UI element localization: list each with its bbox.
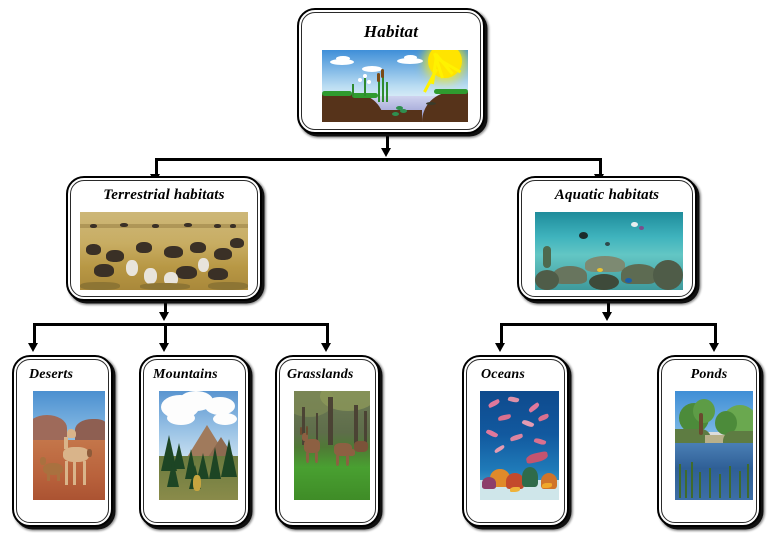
- ocean-fish-shoal-photo: [480, 391, 559, 500]
- connector-to-grasslands: [326, 323, 329, 345]
- savanna-grazing-animals-photo: [80, 212, 248, 290]
- connector-to-ponds: [714, 323, 717, 345]
- node-habitat-label: Habitat: [302, 22, 480, 42]
- node-aquatic-habitats[interactable]: Aquatic habitats: [517, 176, 697, 301]
- connector-to-mountains: [164, 323, 167, 345]
- node-aquatic-inner: Aquatic habitats: [521, 180, 693, 297]
- arrowhead-deserts: [28, 343, 38, 352]
- connector-level2-bus: [155, 158, 601, 161]
- node-terrestrial-inner: Terrestrial habitats: [70, 180, 258, 297]
- node-terrestrial-label: Terrestrial habitats: [71, 187, 257, 204]
- habitat-hierarchy-diagram: Habitat: [0, 0, 773, 533]
- coral-reef-underwater-photo: [535, 212, 683, 290]
- desert-camels-photo: [33, 391, 105, 500]
- node-mountains-label: Mountains: [144, 367, 245, 383]
- habitat-scene-illustration: [322, 50, 468, 122]
- connector-to-deserts: [33, 323, 36, 345]
- node-grasslands[interactable]: Grasslands: [275, 355, 380, 527]
- grassland-deer-photo: [294, 391, 370, 500]
- pond-trees-reeds-photo: [675, 391, 753, 500]
- node-ponds-inner: Ponds: [661, 359, 757, 523]
- node-deserts-label: Deserts: [17, 367, 108, 383]
- arrowhead-grasslands: [321, 343, 331, 352]
- node-grasslands-inner: Grasslands: [279, 359, 376, 523]
- node-oceans-inner: Oceans: [466, 359, 565, 523]
- node-deserts[interactable]: Deserts: [12, 355, 113, 527]
- node-oceans-label: Oceans: [467, 367, 564, 383]
- connector-terrestrial-bus: [33, 323, 328, 326]
- arrowhead-ponds: [709, 343, 719, 352]
- arrowhead-terrestrial-stem: [159, 312, 169, 321]
- node-ponds[interactable]: Ponds: [657, 355, 761, 527]
- connector-aquatic-bus: [500, 323, 716, 326]
- node-grasslands-label: Grasslands: [280, 367, 375, 383]
- node-aquatic-label: Aquatic habitats: [522, 187, 692, 204]
- arrowhead-mountains: [159, 343, 169, 352]
- connector-to-oceans: [500, 323, 503, 345]
- node-mountains-inner: Mountains: [143, 359, 246, 523]
- node-deserts-inner: Deserts: [16, 359, 109, 523]
- arrowhead-oceans: [495, 343, 505, 352]
- mountain-conifers-photo: [159, 391, 238, 500]
- node-habitat-inner: Habitat: [301, 12, 481, 130]
- node-terrestrial-habitats[interactable]: Terrestrial habitats: [66, 176, 262, 301]
- node-habitat[interactable]: Habitat: [297, 8, 485, 134]
- node-ponds-label: Ponds: [662, 367, 756, 383]
- node-oceans[interactable]: Oceans: [462, 355, 569, 527]
- arrowhead-aquatic-stem: [602, 312, 612, 321]
- node-mountains[interactable]: Mountains: [139, 355, 250, 527]
- arrowhead-root-stem: [381, 148, 391, 157]
